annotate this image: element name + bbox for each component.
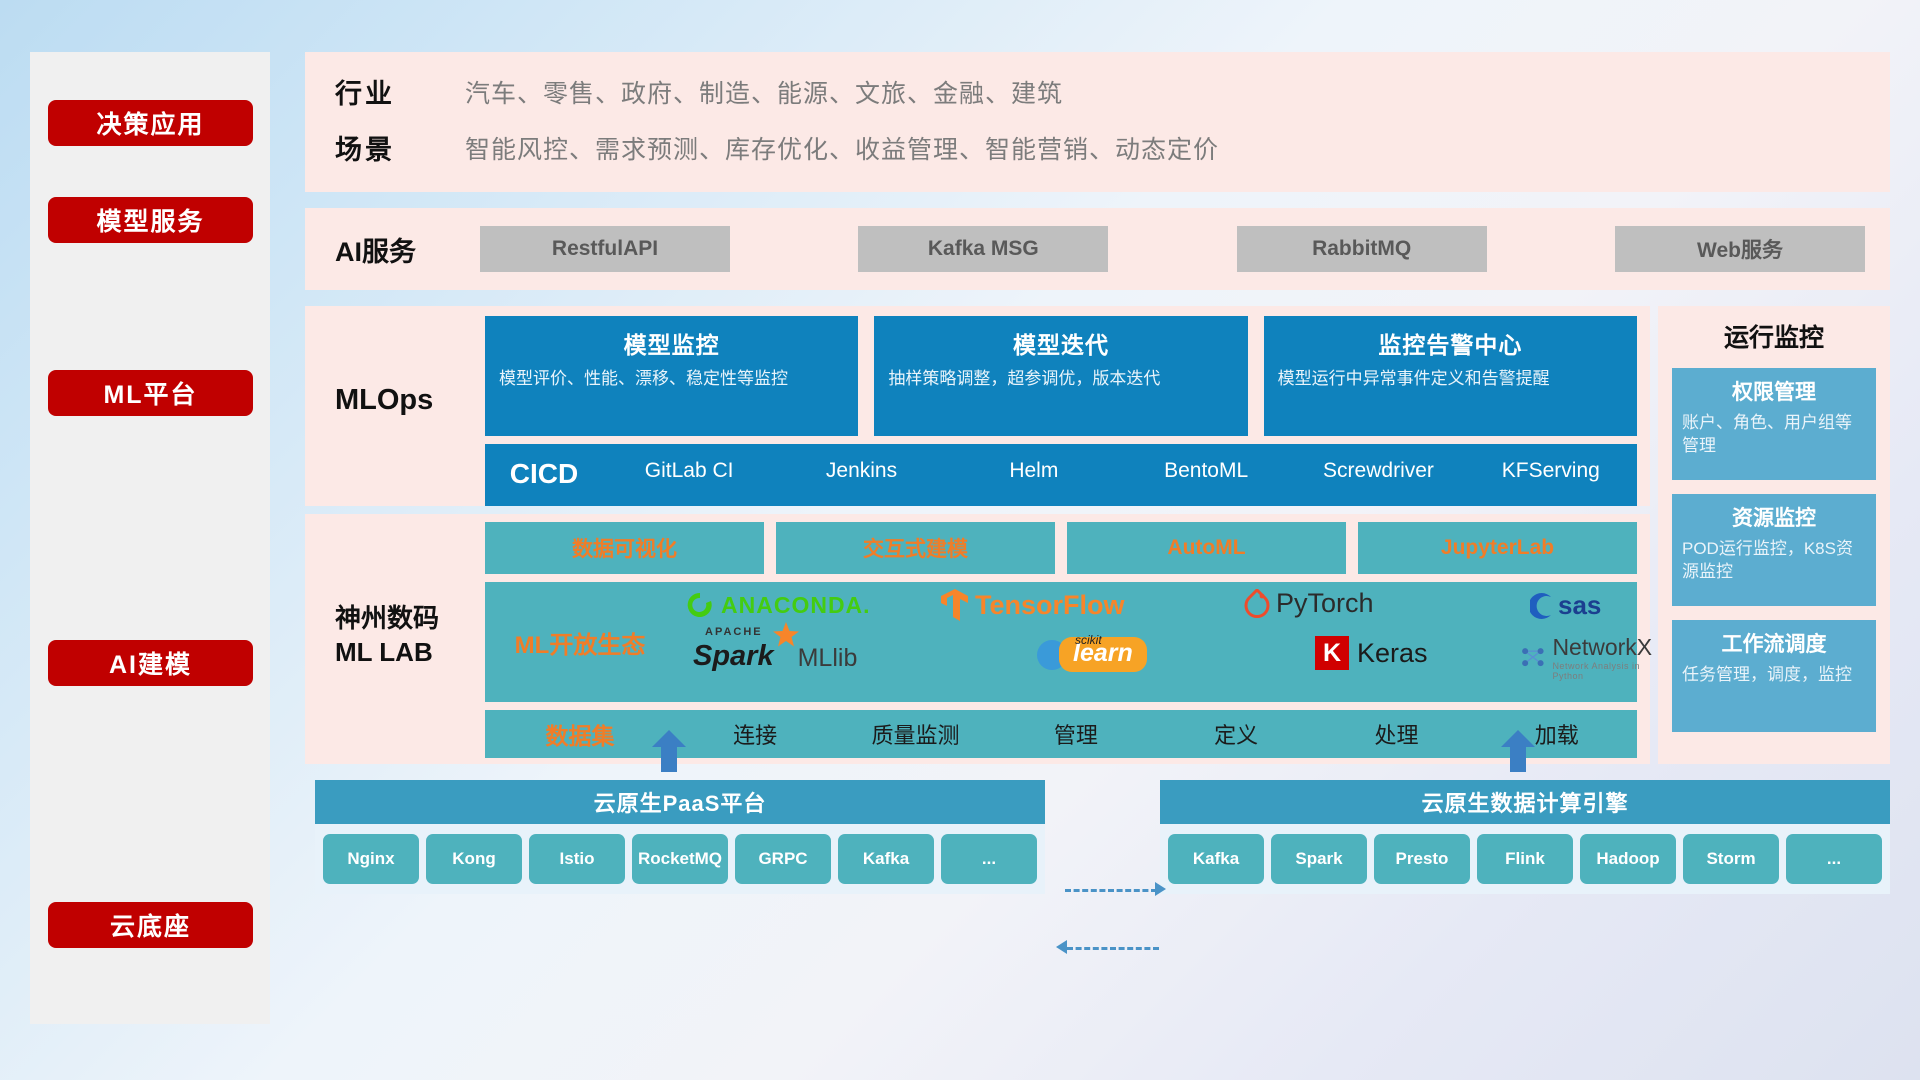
cloud-chip-kafka-engine[interactable]: Kafka <box>1168 834 1264 884</box>
mlops-card-list: 模型监控 模型评价、性能、漂移、稳定性等监控 模型迭代 抽样策略调整，超参调优，… <box>485 316 1637 436</box>
tool-chip-automl[interactable]: AutoML <box>1067 522 1346 574</box>
cloud-chip-istio[interactable]: Istio <box>529 834 625 884</box>
mlops-card-model-iteration[interactable]: 模型迭代 抽样策略调整，超参调优，版本迭代 <box>874 316 1247 436</box>
industry-scenario-band: 行业 场景 汽车、零售、政府、制造、能源、文旅、金融、建筑 智能风控、需求预测、… <box>305 52 1890 192</box>
logo-scikit-learn: scikit learn <box>1035 637 1147 672</box>
rail-tag-label: 模型服务 <box>96 202 204 238</box>
logo-anaconda: ANACONDA. <box>685 590 871 620</box>
cloud-chip-flink[interactable]: Flink <box>1477 834 1573 884</box>
cloud-chip-kong[interactable]: Kong <box>426 834 522 884</box>
pytorch-icon <box>1243 589 1271 619</box>
ai-service-chip-restfulapi[interactable]: RestfulAPI <box>480 226 730 272</box>
logo-scikit-text: scikit <box>1075 633 1102 647</box>
stack-layer-rail: 决策应用 模型服务 ML平台 AI建模 云底座 <box>30 52 270 1024</box>
rail-tag-ai-modeling[interactable]: AI建模 <box>48 640 253 686</box>
cicd-item-screwdriver[interactable]: Screwdriver <box>1292 458 1464 484</box>
cloud-chip-kafka[interactable]: Kafka <box>838 834 934 884</box>
monitor-card-workflow-scheduling[interactable]: 工作流调度 任务管理，调度，监控 <box>1672 620 1876 732</box>
logo-networkx-tagline: Network Analysis in Python <box>1552 661 1656 681</box>
scenario-value: 智能风控、需求预测、库存优化、收益管理、智能营销、动态定价 <box>465 122 1219 178</box>
cloud-chip-hadoop[interactable]: Hadoop <box>1580 834 1676 884</box>
keras-icon: K <box>1315 636 1349 670</box>
cloud-chip-grpc[interactable]: GRPC <box>735 834 831 884</box>
cloud-chip-more[interactable]: ... <box>941 834 1037 884</box>
logo-spark-text: Spark <box>693 640 774 672</box>
logo-networkx-text: NetworkX <box>1552 634 1656 661</box>
industry-value: 汽车、零售、政府、制造、能源、文旅、金融、建筑 <box>465 66 1219 122</box>
mlops-card-desc: 模型评价、性能、漂移、稳定性等监控 <box>499 368 844 391</box>
mlops-card-model-monitoring[interactable]: 模型监控 模型评价、性能、漂移、稳定性等监控 <box>485 316 858 436</box>
logo-networkx: NetworkX Network Analysis in Python <box>1520 634 1657 681</box>
cloud-base-zone: 云原生PaaS平台 Nginx Kong Istio RocketMQ GRPC… <box>305 722 1890 1024</box>
logo-sas-text: sas <box>1558 590 1601 621</box>
monitor-card-title: 权限管理 <box>1682 376 1866 406</box>
logo-keras-text: Keras <box>1357 638 1428 669</box>
mlops-card-desc: 模型运行中异常事件定义和告警提醒 <box>1278 368 1623 391</box>
networkx-text-group: NetworkX Network Analysis in Python <box>1552 634 1656 681</box>
cloud-chip-spark[interactable]: Spark <box>1271 834 1367 884</box>
logo-tensorflow-text: TensorFlow <box>975 590 1125 621</box>
ai-service-band: AI服务 RestfulAPI Kafka MSG RabbitMQ Web服务 <box>305 208 1890 290</box>
ai-service-chip-kafka-msg[interactable]: Kafka MSG <box>858 226 1108 272</box>
dash-connector-right-icon <box>1065 889 1157 892</box>
rail-tag-cloud-base[interactable]: 云底座 <box>48 902 253 948</box>
spark-star-icon <box>773 622 799 648</box>
cloud-paas-chip-list: Nginx Kong Istio RocketMQ GRPC Kafka ... <box>315 824 1045 894</box>
logo-sas: sas <box>1530 590 1601 621</box>
logo-apache-text: APACHE <box>705 626 763 638</box>
sas-icon <box>1530 592 1556 620</box>
ml-open-ecosystem-label: ML开放生态 <box>485 625 675 660</box>
mlops-label: MLOps <box>335 384 475 417</box>
logo-keras-k-text: K <box>1323 639 1341 668</box>
dash-arrowhead-right-icon <box>1155 882 1166 896</box>
ecosystem-logo-group: ANACONDA. TensorFlow PyTorch <box>675 582 1637 702</box>
scikit-learn-badge: scikit learn <box>1059 637 1147 672</box>
cloud-chip-nginx[interactable]: Nginx <box>323 834 419 884</box>
cloud-engine-chip-list: Kafka Spark Presto Flink Hadoop Storm ..… <box>1160 824 1890 894</box>
rail-tag-label: AI建模 <box>109 645 192 681</box>
monitor-card-permission-management[interactable]: 权限管理 账户、角色、用户组等管理 <box>1672 368 1876 480</box>
logo-mllib-text: MLlib <box>798 644 858 673</box>
up-arrow-engine-icon <box>1501 730 1535 772</box>
cloud-chip-presto[interactable]: Presto <box>1374 834 1470 884</box>
cloud-chip-more-engine[interactable]: ... <box>1786 834 1882 884</box>
industry-label: 行业 <box>335 66 465 122</box>
logo-pytorch-text: PyTorch <box>1276 588 1374 619</box>
cicd-item-jenkins[interactable]: Jenkins <box>775 458 947 484</box>
ai-service-chip-rabbitmq[interactable]: RabbitMQ <box>1237 226 1487 272</box>
logo-anaconda-text: ANACONDA. <box>721 592 871 619</box>
rail-tag-ml-platform[interactable]: ML平台 <box>48 370 253 416</box>
dash-connector-left-icon <box>1067 947 1159 950</box>
tensorflow-icon <box>940 588 970 622</box>
cicd-bar: CICD GitLab CI Jenkins Helm BentoML Scre… <box>485 444 1637 506</box>
cicd-item-kfserving[interactable]: KFServing <box>1465 458 1637 484</box>
logo-spark-mllib: APACHE Spark MLlib <box>693 640 857 673</box>
monitor-card-title: 资源监控 <box>1682 502 1866 532</box>
tool-chip-jupyterlab[interactable]: JupyterLab <box>1358 522 1637 574</box>
industry-scenario-values: 汽车、零售、政府、制造、能源、文旅、金融、建筑 智能风控、需求预测、库存优化、收… <box>465 66 1219 178</box>
cicd-item-gitlab-ci[interactable]: GitLab CI <box>603 458 775 484</box>
rail-tag-label: ML平台 <box>103 375 197 411</box>
monitor-card-title: 工作流调度 <box>1682 628 1866 658</box>
runtime-monitoring-panel: 运行监控 权限管理 账户、角色、用户组等管理 资源监控 POD运行监控，K8S资… <box>1658 306 1890 764</box>
mlops-band: MLOps 模型监控 模型评价、性能、漂移、稳定性等监控 模型迭代 抽样策略调整… <box>305 306 1650 506</box>
tool-chip-interactive-modeling[interactable]: 交互式建模 <box>776 522 1055 574</box>
mlops-card-alert-center[interactable]: 监控告警中心 模型运行中异常事件定义和告警提醒 <box>1264 316 1637 436</box>
up-arrow-paas-icon <box>652 730 686 772</box>
ml-lab-label-cn: 神州数码 <box>335 602 485 636</box>
runtime-monitoring-title: 运行监控 <box>1672 318 1876 354</box>
cloud-paas-column: 云原生PaaS平台 Nginx Kong Istio RocketMQ GRPC… <box>315 780 1045 894</box>
rail-tag-decision-app[interactable]: 决策应用 <box>48 100 253 146</box>
dash-arrowhead-left-icon <box>1056 940 1067 954</box>
networkx-icon <box>1520 642 1547 674</box>
logo-keras: K Keras <box>1315 636 1428 670</box>
monitor-card-desc: 任务管理，调度，监控 <box>1682 664 1866 687</box>
cloud-chip-rocketmq[interactable]: RocketMQ <box>632 834 728 884</box>
tool-chip-data-visualization[interactable]: 数据可视化 <box>485 522 764 574</box>
monitor-card-resource-monitoring[interactable]: 资源监控 POD运行监控，K8S资源监控 <box>1672 494 1876 606</box>
cloud-paas-title: 云原生PaaS平台 <box>315 780 1045 824</box>
rail-tag-model-service[interactable]: 模型服务 <box>48 197 253 243</box>
modeling-tool-list: 数据可视化 交互式建模 AutoML JupyterLab <box>485 522 1637 574</box>
industry-scenario-labels: 行业 场景 <box>335 66 465 178</box>
cloud-chip-storm[interactable]: Storm <box>1683 834 1779 884</box>
cicd-label: CICD <box>485 458 603 490</box>
spark-logo-group: APACHE Spark <box>693 640 774 673</box>
anaconda-icon <box>685 590 715 620</box>
logo-tensorflow: TensorFlow <box>940 588 1125 622</box>
mlops-card-title: 监控告警中心 <box>1278 326 1623 360</box>
cloud-engine-column: 云原生数据计算引擎 Kafka Spark Presto Flink Hadoo… <box>1160 780 1890 894</box>
logo-pytorch: PyTorch <box>1243 588 1374 619</box>
cloud-engine-title: 云原生数据计算引擎 <box>1160 780 1890 824</box>
rail-tag-label: 决策应用 <box>96 105 204 141</box>
monitor-card-desc: 账户、角色、用户组等管理 <box>1682 412 1866 458</box>
monitor-card-desc: POD运行监控，K8S资源监控 <box>1682 538 1866 584</box>
ml-lab-label-en: ML LAB <box>335 636 485 670</box>
scenario-label: 场景 <box>335 122 465 178</box>
cicd-item-list: GitLab CI Jenkins Helm BentoML Screwdriv… <box>603 458 1637 484</box>
ai-service-chip-web-service[interactable]: Web服务 <box>1615 226 1865 272</box>
cicd-item-helm[interactable]: Helm <box>948 458 1120 484</box>
mlops-card-desc: 抽样策略调整，超参调优，版本迭代 <box>888 368 1233 391</box>
ai-service-label: AI服务 <box>335 230 475 269</box>
ml-open-ecosystem-box: ML开放生态 ANACONDA. TensorFlow <box>485 582 1637 702</box>
cicd-item-bentoml[interactable]: BentoML <box>1120 458 1292 484</box>
mlops-card-title: 模型迭代 <box>888 326 1233 360</box>
ai-service-chip-list: RestfulAPI Kafka MSG RabbitMQ Web服务 <box>475 226 1890 272</box>
ml-lab-label: 神州数码 ML LAB <box>335 602 485 670</box>
mlops-card-title: 模型监控 <box>499 326 844 360</box>
rail-tag-label: 云底座 <box>110 907 191 943</box>
